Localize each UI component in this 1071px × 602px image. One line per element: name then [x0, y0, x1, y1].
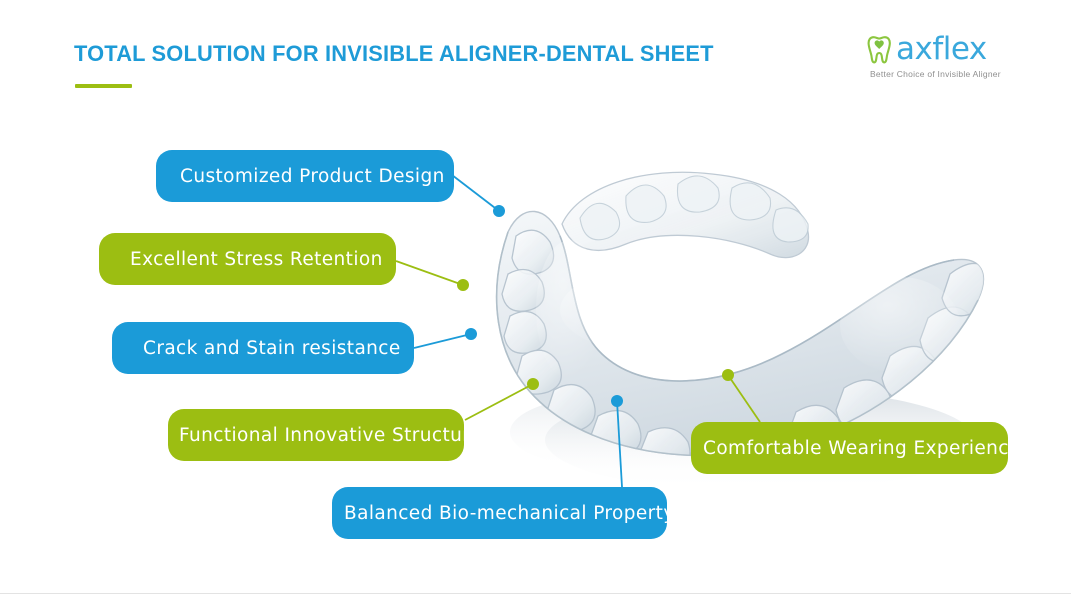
tooth-heart-icon	[866, 33, 900, 67]
callout-label: Crack and Stain resistance	[112, 338, 401, 359]
callout-label: Balanced Bio-mechanical Property	[332, 503, 675, 524]
slide-canvas: TOTAL SOLUTION FOR INVISIBLE ALIGNER-DEN…	[0, 0, 1071, 602]
logo-brand-text: axflex	[896, 31, 987, 67]
callout-comfortable-wearing-experience[interactable]: Comfortable Wearing Experience	[691, 422, 1008, 474]
callout-balanced-bio-mechanical-property[interactable]: Balanced Bio-mechanical Property	[332, 487, 667, 539]
callout-label: Excellent Stress Retention	[99, 249, 383, 270]
title-underline-accent	[75, 84, 132, 88]
callout-customized-product-design[interactable]: Customized Product Design	[156, 150, 454, 202]
page-title: TOTAL SOLUTION FOR INVISIBLE ALIGNER-DEN…	[74, 41, 714, 67]
callout-label: Comfortable Wearing Experience	[691, 438, 1021, 459]
brand-logo: axflex Better Choice of Invisible Aligne…	[866, 33, 1016, 85]
logo-wordmark: axflex	[866, 33, 1016, 67]
callout-label: Customized Product Design	[156, 166, 445, 187]
callout-label: Functional Innovative Structure	[168, 425, 482, 446]
footer-divider	[0, 593, 1071, 594]
logo-tagline: Better Choice of Invisible Aligner	[870, 69, 1001, 79]
callout-excellent-stress-retention[interactable]: Excellent Stress Retention	[99, 233, 396, 285]
callout-crack-and-stain-resistance[interactable]: Crack and Stain resistance	[112, 322, 414, 374]
callout-functional-innovative-structure[interactable]: Functional Innovative Structure	[168, 409, 464, 461]
